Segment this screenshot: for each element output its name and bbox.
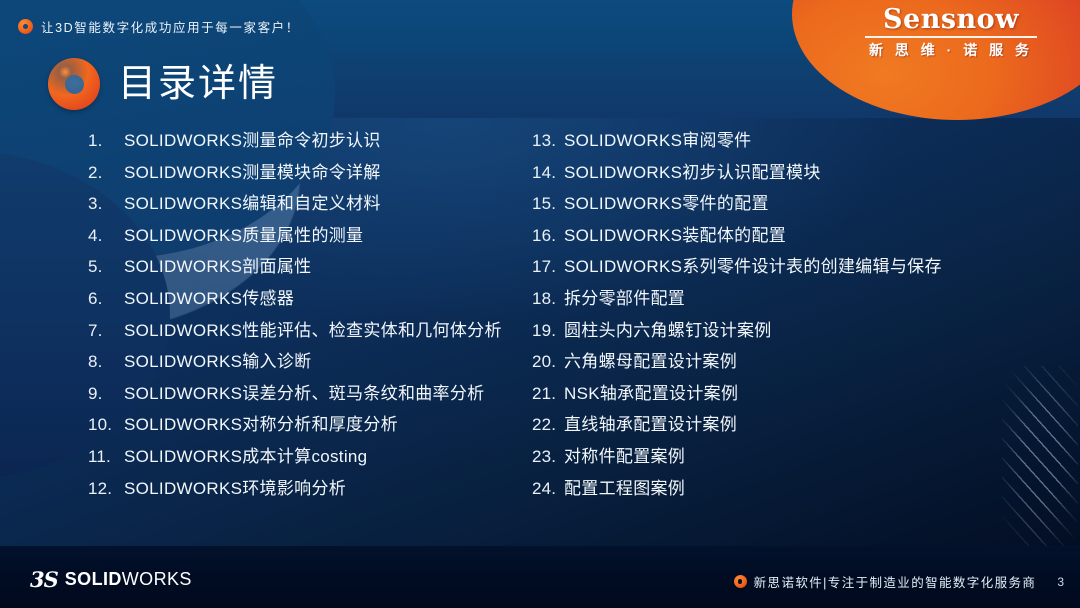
toc-left-column: 1.SOLIDWORKS测量命令初步认识 2.SOLIDWORKS测量模块命令详… [88, 126, 548, 505]
list-item[interactable]: 6.SOLIDWORKS传感器 [88, 284, 548, 303]
list-item-number: 6. [88, 289, 124, 309]
list-item-number: 12. [88, 479, 124, 499]
footer-company-info: 新思诺软件|专注于制造业的智能数字化服务商 3 [734, 572, 1064, 591]
list-item[interactable]: 24.配置工程图案例 [532, 474, 1052, 493]
list-item-number: 13. [532, 131, 564, 151]
list-item[interactable]: 18.拆分零部件配置 [532, 284, 1052, 303]
list-item-label: 配置工程图案例 [564, 474, 685, 499]
list-item[interactable]: 3.SOLIDWORKS编辑和自定义材料 [88, 189, 548, 208]
list-item[interactable]: 14.SOLIDWORKS初步认识配置模块 [532, 158, 1052, 177]
list-item-label: SOLIDWORKS装配体的配置 [564, 221, 786, 246]
list-item[interactable]: 13.SOLIDWORKS审阅零件 [532, 126, 1052, 145]
list-item[interactable]: 10.SOLIDWORKS对称分析和厚度分析 [88, 410, 548, 429]
list-item-number: 5. [88, 257, 124, 277]
list-item[interactable]: 4.SOLIDWORKS质量属性的测量 [88, 221, 548, 240]
list-item-label: SOLIDWORKS编辑和自定义材料 [124, 189, 381, 214]
list-item-number: 21. [532, 384, 564, 404]
list-item-number: 16. [532, 226, 564, 246]
list-item-label: 六角螺母配置设计案例 [564, 347, 737, 372]
list-item-number: 17. [532, 257, 564, 277]
orange-ring-icon-large [48, 58, 100, 110]
list-item[interactable]: 15.SOLIDWORKS零件的配置 [532, 189, 1052, 208]
list-item-label: SOLIDWORKS误差分析、斑马条纹和曲率分析 [124, 379, 484, 404]
page-number: 3 [1057, 575, 1064, 589]
list-item-number: 24. [532, 479, 564, 499]
list-item-number: 14. [532, 163, 564, 183]
list-item[interactable]: 21.NSK轴承配置设计案例 [532, 379, 1052, 398]
list-item-label: SOLIDWORKS系列零件设计表的创建编辑与保存 [564, 252, 942, 277]
list-item-label: SOLIDWORKS初步认识配置模块 [564, 158, 821, 183]
footer-company-text: 新思诺软件|专注于制造业的智能数字化服务商 [754, 572, 1037, 591]
list-item-label: SOLIDWORKS输入诊断 [124, 347, 311, 372]
list-item-label: SOLIDWORKS环境影响分析 [124, 474, 346, 499]
list-item-label: SOLIDWORKS审阅零件 [564, 126, 751, 151]
list-item[interactable]: 11.SOLIDWORKS成本计算costing [88, 442, 548, 461]
decorative-diagonal-hatch [1002, 366, 1078, 556]
list-item[interactable]: 7.SOLIDWORKS性能评估、检查实体和几何体分析 [88, 316, 548, 335]
solidworks-bold-part: SOLID [65, 569, 122, 589]
tagline: 让3D智能数字化成功应用于每一家客户！ [18, 17, 300, 36]
brand-logo: Sensnow 新 思 维 · 诺 服 务 [836, 4, 1066, 60]
list-item-number: 23. [532, 447, 564, 467]
list-item-number: 18. [532, 289, 564, 309]
list-item-label: SOLIDWORKS零件的配置 [564, 189, 769, 214]
list-item-number: 15. [532, 194, 564, 214]
3ds-icon: 3S [30, 567, 58, 592]
list-item-label: SOLIDWORKS对称分析和厚度分析 [124, 410, 398, 435]
toc-container: 1.SOLIDWORKS测量命令初步认识 2.SOLIDWORKS测量模块命令详… [0, 126, 1080, 526]
list-item-number: 19. [532, 321, 564, 341]
footer-bar: 3S SOLIDWORKS 新思诺软件|专注于制造业的智能数字化服务商 3 [0, 546, 1080, 608]
list-item[interactable]: 12.SOLIDWORKS环境影响分析 [88, 474, 548, 493]
tagline-text: 让3D智能数字化成功应用于每一家客户！ [41, 17, 300, 36]
list-item[interactable]: 16.SOLIDWORKS装配体的配置 [532, 221, 1052, 240]
list-item[interactable]: 5.SOLIDWORKS剖面属性 [88, 252, 548, 271]
orange-ring-icon [18, 19, 33, 34]
list-item-number: 2. [88, 163, 124, 183]
list-item-label: SOLIDWORKS成本计算costing [124, 442, 367, 467]
list-item-label: SOLIDWORKS剖面属性 [124, 252, 311, 277]
list-item[interactable]: 19.圆柱头内六角螺钉设计案例 [532, 316, 1052, 335]
list-item-number: 11. [88, 447, 124, 467]
list-item-number: 8. [88, 352, 124, 372]
list-item-number: 22. [532, 415, 564, 435]
brand-subtitle: 新 思 维 · 诺 服 务 [836, 40, 1066, 60]
page-title: 目录详情 [48, 58, 278, 110]
list-item-label: 圆柱头内六角螺钉设计案例 [564, 316, 772, 341]
toc-right-column: 13.SOLIDWORKS审阅零件 14.SOLIDWORKS初步认识配置模块 … [532, 126, 1052, 505]
list-item[interactable]: 23.对称件配置案例 [532, 442, 1052, 461]
list-item-number: 10. [88, 415, 124, 435]
solidworks-light-part: WORKS [122, 569, 192, 589]
list-item-label: SOLIDWORKS测量命令初步认识 [124, 126, 381, 151]
list-item-label: SOLIDWORKS性能评估、检查实体和几何体分析 [124, 316, 502, 341]
list-item-label: SOLIDWORKS质量属性的测量 [124, 221, 363, 246]
brand-divider [865, 36, 1037, 38]
list-item-number: 4. [88, 226, 124, 246]
list-item-number: 20. [532, 352, 564, 372]
list-item-label: SOLIDWORKS测量模块命令详解 [124, 158, 381, 183]
list-item[interactable]: 2.SOLIDWORKS测量模块命令详解 [88, 158, 548, 177]
list-item-label: 对称件配置案例 [564, 442, 685, 467]
list-item[interactable]: 1.SOLIDWORKS测量命令初步认识 [88, 126, 548, 145]
list-item[interactable]: 17.SOLIDWORKS系列零件设计表的创建编辑与保存 [532, 252, 1052, 271]
list-item-label: 拆分零部件配置 [564, 284, 685, 309]
solidworks-wordmark: SOLIDWORKS [65, 569, 192, 590]
list-item-label: SOLIDWORKS传感器 [124, 284, 294, 309]
list-item-label: 直线轴承配置设计案例 [564, 410, 737, 435]
list-item-label: NSK轴承配置设计案例 [564, 379, 738, 404]
solidworks-logo: 3S SOLIDWORKS [30, 567, 192, 592]
slide-root: Sensnow 新 思 维 · 诺 服 务 让3D智能数字化成功应用于每一家客户… [0, 0, 1080, 608]
list-item-number: 3. [88, 194, 124, 214]
list-item[interactable]: 9.SOLIDWORKS误差分析、斑马条纹和曲率分析 [88, 379, 548, 398]
list-item[interactable]: 8.SOLIDWORKS输入诊断 [88, 347, 548, 366]
list-item-number: 7. [88, 321, 124, 341]
list-item[interactable]: 20.六角螺母配置设计案例 [532, 347, 1052, 366]
list-item-number: 9. [88, 384, 124, 404]
orange-ring-icon-footer [734, 575, 747, 588]
page-title-text: 目录详情 [118, 65, 278, 103]
list-item[interactable]: 22.直线轴承配置设计案例 [532, 410, 1052, 429]
list-item-number: 1. [88, 131, 124, 151]
brand-name: Sensnow [836, 4, 1066, 35]
